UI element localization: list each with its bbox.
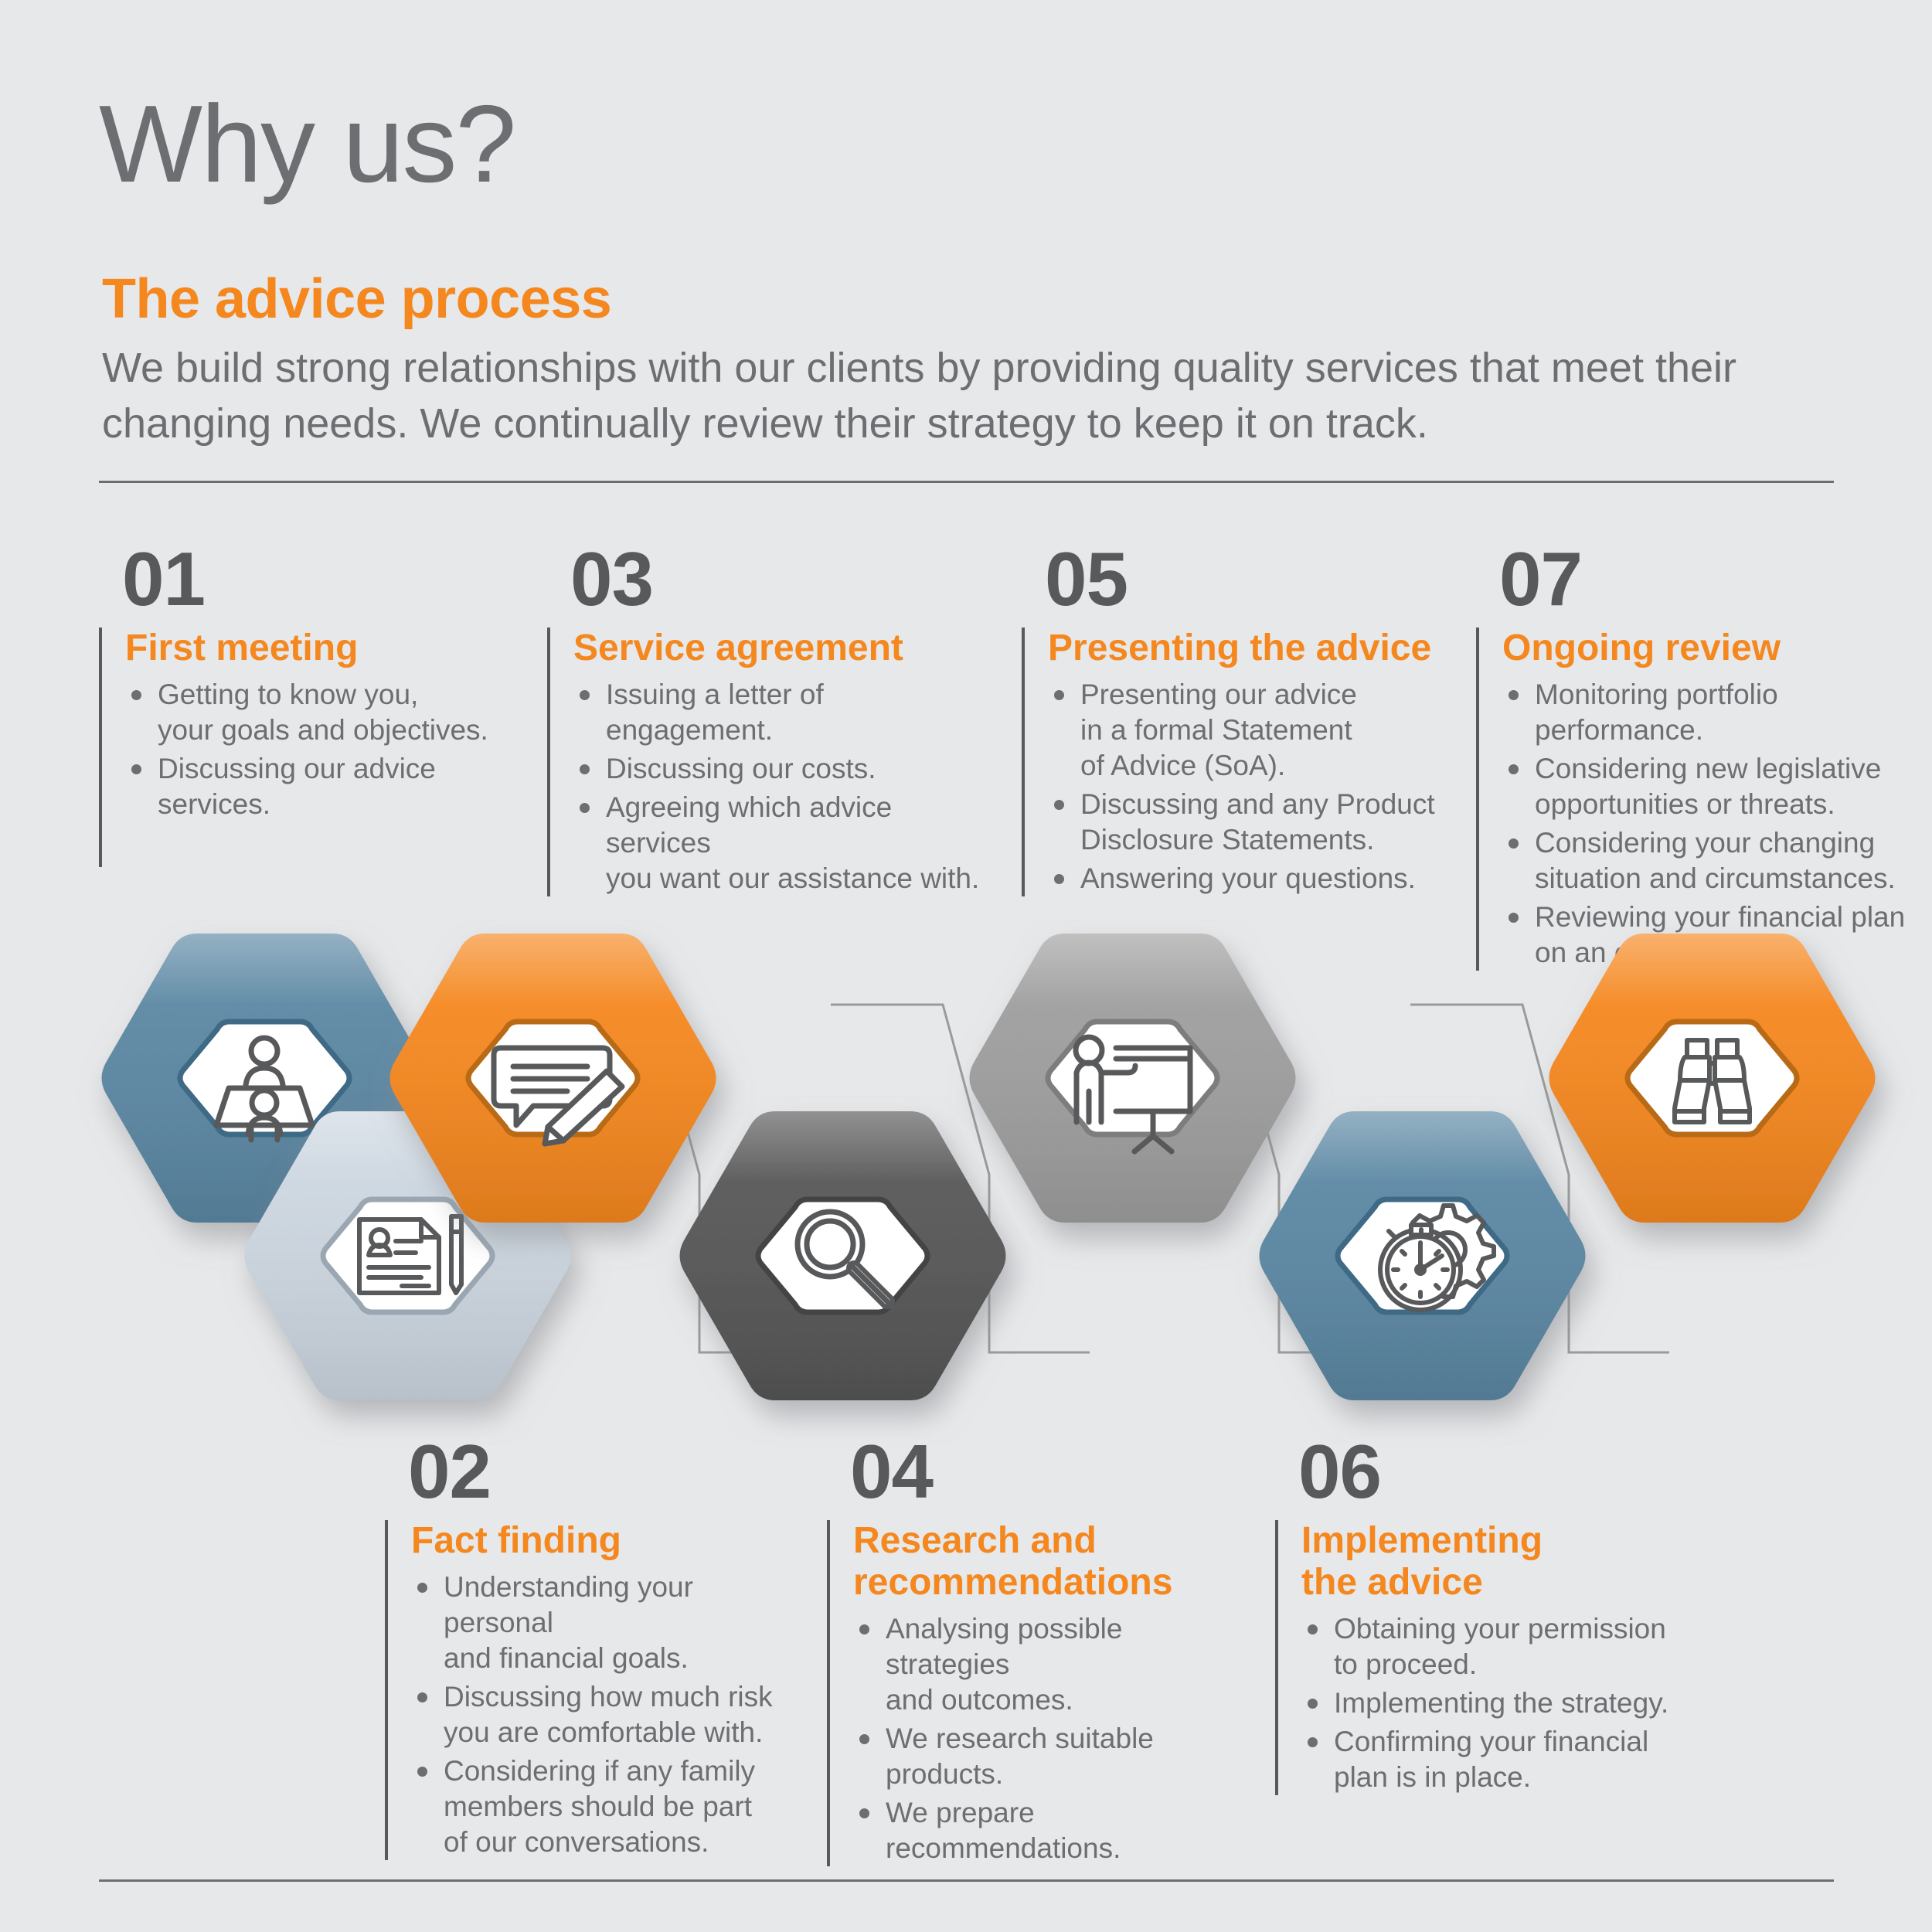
step-bullet-list: Getting to know you, your goals and obje…: [125, 677, 532, 822]
step-heading: First meeting: [125, 628, 532, 669]
step-number: 01: [99, 541, 532, 617]
list-item: Confirming your financial plan is in pla…: [1301, 1724, 1692, 1795]
step-heading: Ongoing review: [1502, 628, 1932, 669]
header-divider: [99, 481, 1834, 483]
step-06: 06 Implementing the advice Obtaining you…: [1275, 1434, 1692, 1798]
list-item: Agreeing which advice services you want …: [573, 790, 992, 896]
step-number: 03: [547, 541, 992, 617]
step-bullet-list: Obtaining your permission to proceed. Im…: [1301, 1611, 1692, 1795]
step-body: Service agreement Issuing a letter of en…: [547, 628, 992, 896]
step-bullet-list: Analysing possible strategies and outcom…: [853, 1611, 1244, 1866]
list-item: Discussing our costs.: [573, 751, 992, 787]
step-03: 03 Service agreement Issuing a letter of…: [547, 541, 992, 900]
step-07: 07 Ongoing review Monitoring portfolio p…: [1476, 541, 1932, 974]
step-heading: Research and recommendations: [853, 1520, 1244, 1604]
infographic-page: Why us? The advice process We build stro…: [0, 0, 1932, 1932]
step-heading: Implementing the advice: [1301, 1520, 1692, 1604]
list-item: Monitoring portfolio performance.: [1502, 677, 1932, 748]
step-01: 01 First meeting Getting to know you, yo…: [99, 541, 532, 867]
step-body: First meeting Getting to know you, your …: [99, 628, 532, 867]
list-item: Discussing and any Product Disclosure St…: [1048, 787, 1454, 858]
step-body: Presenting the advice Presenting our adv…: [1022, 628, 1454, 896]
step-heading: Presenting the advice: [1048, 628, 1454, 669]
list-item: Obtaining your permission to proceed.: [1301, 1611, 1692, 1682]
list-item: Implementing the strategy.: [1301, 1685, 1692, 1721]
list-item: Understanding your personal and financia…: [411, 1570, 802, 1676]
step-02: 02 Fact finding Understanding your perso…: [385, 1434, 802, 1863]
step-body: Research and recommendations Analysing p…: [827, 1520, 1244, 1866]
list-item: We prepare recommendations.: [853, 1795, 1244, 1866]
list-item: We research suitable products.: [853, 1721, 1244, 1792]
list-item: Considering if any family members should…: [411, 1753, 802, 1860]
step-number: 02: [385, 1434, 802, 1509]
list-item: Discussing our advice services.: [125, 751, 532, 822]
hexagon-process-flow: [0, 920, 1932, 1445]
step-05: 05 Presenting the advice Presenting our …: [1022, 541, 1454, 900]
step-bullet-list: Understanding your personal and financia…: [411, 1570, 802, 1860]
intro-paragraph: We build strong relationships with our c…: [102, 340, 1825, 451]
footer-divider: [99, 1879, 1834, 1882]
step-body: Fact finding Understanding your personal…: [385, 1520, 802, 1860]
step-number: 04: [827, 1434, 1244, 1509]
list-item: Issuing a letter of engagement.: [573, 677, 992, 748]
list-item: Answering your questions.: [1048, 861, 1454, 896]
page-subtitle: The advice process: [102, 269, 611, 329]
step-number: 07: [1476, 541, 1932, 617]
list-item: Discussing how much risk you are comfort…: [411, 1679, 802, 1750]
list-item: Getting to know you, your goals and obje…: [125, 677, 532, 748]
step-number: 05: [1022, 541, 1454, 617]
step-number: 06: [1275, 1434, 1692, 1509]
step-heading: Service agreement: [573, 628, 992, 669]
step-body: Implementing the advice Obtaining your p…: [1275, 1520, 1692, 1795]
list-item: Considering new legislative opportunitie…: [1502, 751, 1932, 822]
list-item: Presenting our advice in a formal Statem…: [1048, 677, 1454, 784]
list-item: Considering your changing situation and …: [1502, 825, 1932, 896]
step-bullet-list: Issuing a letter of engagement. Discussi…: [573, 677, 992, 896]
list-item: Analysing possible strategies and outcom…: [853, 1611, 1244, 1718]
step-heading: Fact finding: [411, 1520, 802, 1562]
page-title: Why us?: [99, 87, 515, 202]
step-04: 04 Research and recommendations Analysin…: [827, 1434, 1244, 1869]
step-bullet-list: Presenting our advice in a formal Statem…: [1048, 677, 1454, 896]
